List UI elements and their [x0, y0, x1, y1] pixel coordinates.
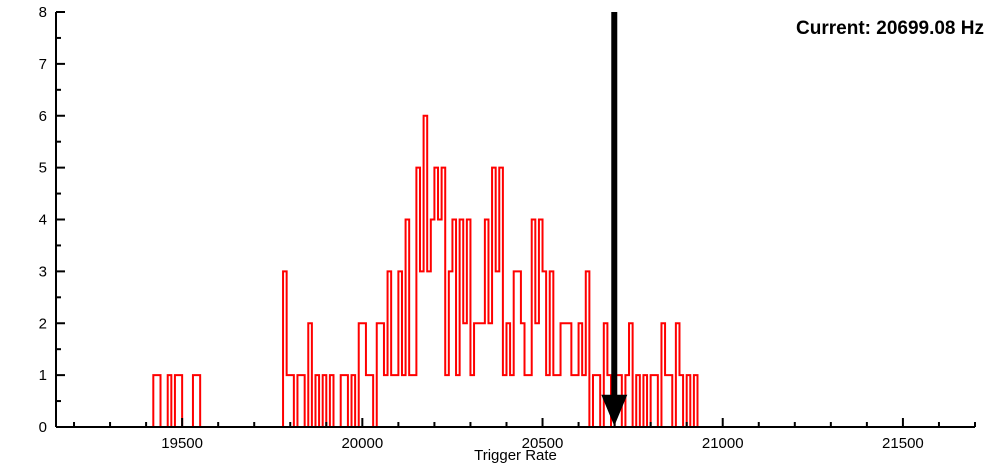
x-tick-label: 21500	[882, 435, 924, 452]
y-tick-label: 3	[39, 263, 47, 280]
y-tick-label: 1	[39, 367, 47, 384]
current-marker-arrow	[601, 395, 627, 426]
x-tick-label: 21000	[702, 435, 744, 452]
chart-page: 0123456781950020000205002100021500Trigge…	[0, 0, 996, 472]
x-axis-title: Trigger Rate	[474, 447, 557, 464]
y-tick-label: 6	[39, 108, 47, 125]
x-tick-label: 20000	[341, 435, 383, 452]
y-tick-label: 0	[39, 419, 47, 436]
y-tick-label: 7	[39, 56, 47, 73]
y-tick-label: 5	[39, 160, 47, 177]
y-tick-label: 4	[39, 212, 47, 229]
x-tick-label: 19500	[161, 435, 203, 452]
current-rate-label: Current: 20699.08 Hz	[796, 18, 984, 40]
histogram-plot: 0123456781950020000205002100021500Trigge…	[0, 0, 996, 472]
y-tick-label: 8	[39, 4, 47, 21]
y-tick-label: 2	[39, 315, 47, 332]
